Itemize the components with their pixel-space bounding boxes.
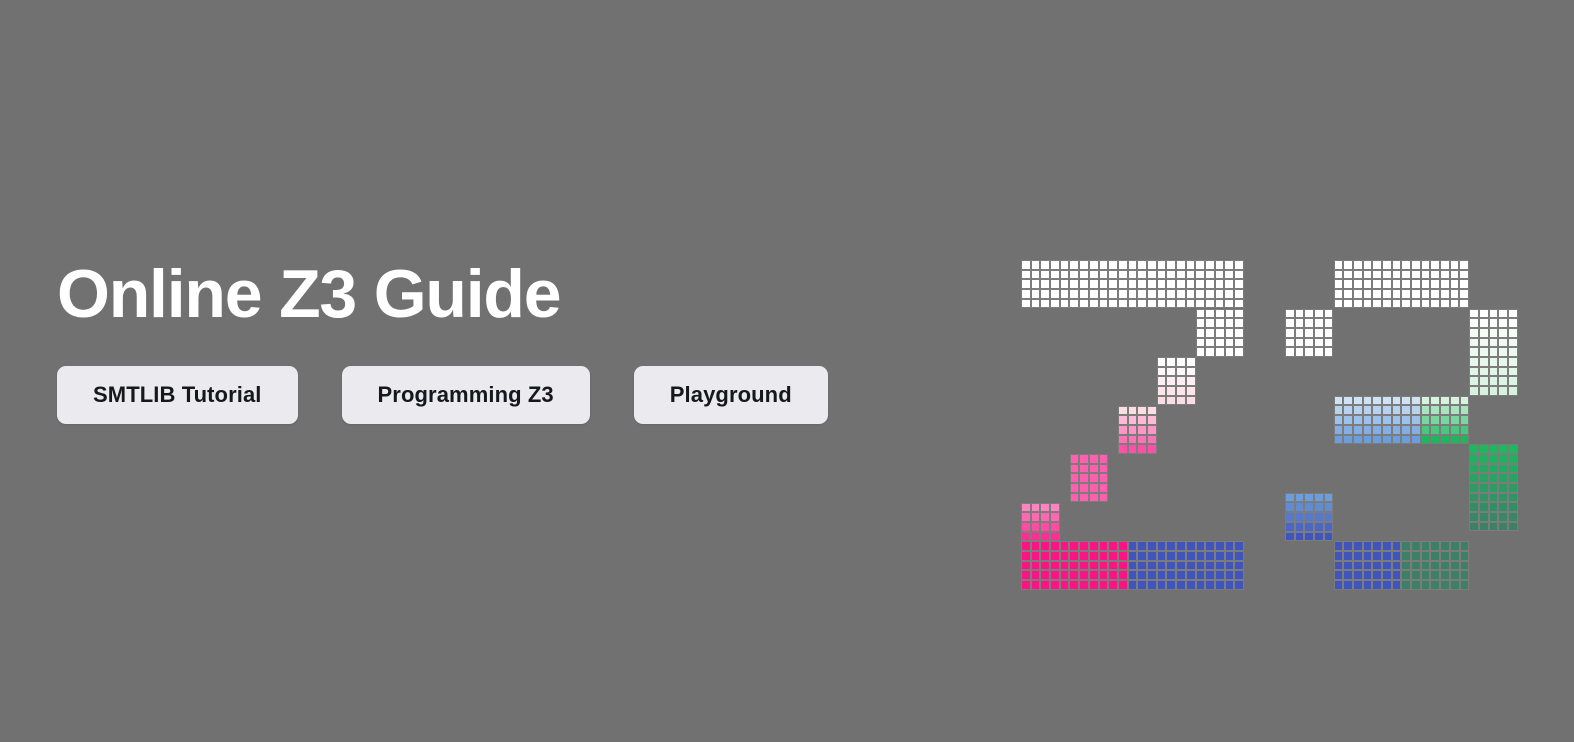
pixel-cell [1099,454,1109,464]
pixel-cell [1372,396,1382,406]
pixel-cell [1195,270,1205,280]
pixel-cell [1285,309,1295,319]
pixel-cell [1040,570,1050,580]
pixel-cell [1459,279,1469,289]
pixel-cell [1508,483,1518,493]
playground-button[interactable]: Playground [634,366,828,424]
pixel-cell [1069,551,1079,561]
pixel-cell [1157,561,1167,571]
pixel-cell [1128,270,1138,280]
pixel-cell [1089,299,1099,309]
pixel-cell [1489,454,1499,464]
pixel-cell [1411,299,1421,309]
pixel-cell [1021,260,1031,270]
pixel-cell [1324,502,1334,512]
pixel-cell [1334,299,1344,309]
pixel-cell [1225,580,1235,590]
pixel-cell [1508,512,1518,522]
pixel-cell [1040,279,1050,289]
pixel-cell [1508,318,1518,328]
pixel-cell [1196,580,1206,590]
pixel-cell [1070,493,1080,503]
pixel-cell [1060,551,1070,561]
pixel-cell [1363,299,1373,309]
pixel-cell [1079,561,1089,571]
pixel-cell [1450,299,1460,309]
pixel-cell [1205,338,1215,348]
pixel-cell [1401,570,1411,580]
pixel-cell [1460,541,1470,551]
pixel-cell [1089,551,1099,561]
pixel-cell [1137,444,1147,454]
pixel-cell [1498,347,1508,357]
pixel-cell [1147,406,1157,416]
pixel-cell [1285,512,1295,522]
pixel-cell [1440,270,1450,280]
pixel-cell [1196,570,1206,580]
pixel-cell [1295,338,1305,348]
pixel-cell [1215,279,1225,289]
pixel-cell [1401,561,1411,571]
pixel-cell [1508,309,1518,319]
pixel-cell [1334,561,1344,571]
pixel-cell [1186,357,1196,367]
pixel-cell [1079,483,1089,493]
pixel-cell [1295,512,1305,522]
pixel-cell [1343,279,1353,289]
hero-section: Online Z3 Guide SMTLIB Tutorial Programm… [0,0,1574,742]
pixel-cell [1479,493,1489,503]
pixel-cell [1363,279,1373,289]
three-bottom-blue [1334,541,1402,589]
pixel-cell [1498,444,1508,454]
pixel-cell [1070,464,1080,474]
pixel-cell [1430,299,1440,309]
pixel-cell [1040,503,1050,513]
pixel-cell [1128,551,1138,561]
pixel-cell [1479,367,1489,377]
pixel-cell [1363,580,1373,590]
pixel-cell [1176,299,1186,309]
pixel-cell [1363,415,1373,425]
pixel-cell [1508,338,1518,348]
pixel-cell [1176,580,1186,590]
pixel-cell [1215,309,1225,319]
pixel-cell [1099,561,1109,571]
pixel-cell [1411,289,1421,299]
pixel-cell [1382,299,1392,309]
pixel-cell [1224,289,1234,299]
pixel-cell [1334,289,1344,299]
pixel-cell [1411,279,1421,289]
pixel-cell [1108,260,1118,270]
pixel-cell [1392,580,1402,590]
pixel-cell [1040,260,1050,270]
pixel-cell [1450,415,1460,425]
pixel-cell [1508,386,1518,396]
pixel-cell [1382,580,1392,590]
pixel-cell [1450,270,1460,280]
pixel-cell [1225,347,1235,357]
pixel-cell [1450,551,1460,561]
pixel-cell [1031,260,1041,270]
pixel-cell [1285,502,1295,512]
pixel-cell [1128,260,1138,270]
pixel-cell [1166,541,1176,551]
pixel-cell [1353,396,1363,406]
pixel-cell [1195,289,1205,299]
pixel-cell [1128,415,1138,425]
z3-pixel-logo [1021,260,1518,586]
pixel-cell [1450,425,1460,435]
pixel-cell [1205,279,1215,289]
pixel-cell [1050,561,1060,571]
pixel-cell [1215,328,1225,338]
pixel-cell [1196,347,1206,357]
pixel-cell [1421,551,1431,561]
pixel-cell [1430,435,1440,445]
pixel-cell [1401,580,1411,590]
pixel-cell [1031,289,1041,299]
pixel-cell [1392,425,1402,435]
pixel-cell [1469,464,1479,474]
pixel-cell [1128,425,1138,435]
pixel-cell [1225,318,1235,328]
seven-top-bar [1021,260,1244,308]
pixel-cell [1234,541,1244,551]
pixel-cell [1372,260,1382,270]
pixel-cell [1137,551,1147,561]
pixel-cell [1450,570,1460,580]
pixel-cell [1234,299,1244,309]
pixel-cell [1118,435,1128,445]
pixel-cell [1060,570,1070,580]
pixel-cell [1421,415,1431,425]
pixel-cell [1234,580,1244,590]
three-bottom-green [1401,541,1469,589]
pixel-cell [1166,357,1176,367]
pixel-cell [1295,347,1305,357]
pixel-cell [1040,561,1050,571]
pixel-cell [1479,357,1489,367]
pixel-cell [1353,289,1363,299]
pixel-cell [1401,279,1411,289]
pixel-cell [1108,570,1118,580]
pixel-cell [1382,551,1392,561]
pixel-cell [1040,541,1050,551]
pixel-cell [1498,338,1508,348]
pixel-cell [1089,270,1099,280]
pixel-cell [1118,279,1128,289]
pixel-cell [1450,580,1460,590]
pixel-cell [1157,279,1167,289]
pixel-cell [1176,270,1186,280]
pixel-cell [1411,425,1421,435]
pixel-cell [1060,561,1070,571]
pixel-cell [1401,415,1411,425]
pixel-cell [1176,376,1186,386]
pixel-cell [1079,279,1089,289]
pixel-cell [1147,561,1157,571]
pixel-cell [1157,289,1167,299]
pixel-cell [1353,541,1363,551]
pixel-cell [1166,367,1176,377]
pixel-cell [1060,289,1070,299]
pixel-cell [1469,347,1479,357]
pixel-cell [1479,502,1489,512]
pixel-cell [1040,580,1050,590]
pixel-cell [1089,493,1099,503]
pixel-cell [1050,580,1060,590]
pixel-cell [1508,357,1518,367]
pixel-cell [1363,435,1373,445]
pixel-cell [1334,260,1344,270]
pixel-cell [1304,493,1314,503]
pixel-cell [1069,580,1079,590]
pixel-cell [1176,279,1186,289]
pixel-cell [1440,405,1450,415]
pixel-cell [1334,396,1344,406]
pixel-cell [1089,289,1099,299]
pixel-cell [1215,541,1225,551]
pixel-cell [1079,493,1089,503]
pixel-cell [1440,299,1450,309]
pixel-cell [1031,541,1041,551]
pixel-cell [1372,425,1382,435]
pixel-cell [1440,551,1450,561]
pixel-cell [1205,347,1215,357]
pixel-cell [1079,289,1089,299]
pixel-cell [1137,289,1147,299]
pixel-cell [1108,299,1118,309]
pixel-cell [1196,338,1206,348]
pixel-cell [1498,464,1508,474]
pixel-cell [1304,532,1314,542]
pixel-cell [1285,347,1295,357]
pixel-cell [1089,473,1099,483]
pixel-cell [1176,289,1186,299]
pixel-cell [1343,405,1353,415]
pixel-cell [1128,435,1138,445]
pixel-cell [1195,299,1205,309]
pixel-cell [1353,270,1363,280]
pixel-cell [1498,386,1508,396]
pixel-cell [1128,561,1138,571]
pixel-cell [1430,279,1440,289]
pixel-cell [1382,561,1392,571]
pixel-cell [1421,270,1431,280]
pixel-cell [1334,551,1344,561]
pixel-cell [1295,502,1305,512]
pixel-cell [1176,396,1186,406]
pixel-cell [1363,396,1373,406]
pixel-cell [1460,405,1470,415]
pixel-cell [1157,580,1167,590]
pixel-cell [1430,561,1440,571]
pixel-cell [1166,396,1176,406]
pixel-cell [1343,396,1353,406]
pixel-cell [1479,473,1489,483]
pixel-cell [1421,570,1431,580]
pixel-cell [1363,425,1373,435]
pixel-cell [1411,570,1421,580]
pixel-cell [1430,405,1440,415]
pixel-cell [1324,493,1334,503]
pixel-cell [1508,493,1518,503]
pixel-cell [1186,580,1196,590]
pixel-cell [1314,347,1324,357]
pixel-cell [1353,425,1363,435]
pixel-cell [1479,464,1489,474]
pixel-cell [1176,367,1186,377]
pixel-cell [1099,473,1109,483]
pixel-cell [1372,435,1382,445]
pixel-cell [1147,570,1157,580]
pixel-cell [1157,551,1167,561]
pixel-cell [1363,541,1373,551]
pixel-cell [1069,270,1079,280]
pixel-cell [1498,376,1508,386]
pixel-cell [1196,551,1206,561]
pixel-cell [1401,289,1411,299]
pixel-cell [1069,570,1079,580]
pixel-cell [1469,493,1479,503]
pixel-cell [1205,318,1215,328]
pixel-cell [1324,512,1334,522]
pixel-cell [1079,570,1089,580]
pixel-cell [1353,435,1363,445]
pixel-cell [1195,260,1205,270]
pixel-cell [1363,570,1373,580]
pixel-cell [1205,299,1215,309]
pixel-cell [1186,386,1196,396]
pixel-cell [1421,279,1431,289]
pixel-cell [1469,473,1479,483]
pixel-cell [1489,502,1499,512]
pixel-cell [1079,473,1089,483]
pixel-cell [1304,338,1314,348]
pixel-cell [1489,357,1499,367]
pixel-cell [1450,279,1460,289]
pixel-cell [1363,561,1373,571]
pixel-cell [1215,551,1225,561]
pixel-cell [1343,289,1353,299]
pixel-cell [1157,357,1167,367]
pixel-cell [1060,270,1070,280]
pixel-cell [1479,444,1489,454]
pixel-cell [1489,386,1499,396]
pixel-cell [1304,309,1314,319]
pixel-cell [1324,328,1334,338]
pixel-cell [1225,338,1235,348]
pixel-cell [1060,279,1070,289]
pixel-cell [1401,435,1411,445]
pixel-cell [1392,279,1402,289]
pixel-cell [1469,454,1479,464]
smtlib-tutorial-button[interactable]: SMTLIB Tutorial [57,366,298,424]
pixel-cell [1089,541,1099,551]
pixel-cell [1440,425,1450,435]
pixel-cell [1382,405,1392,415]
pixel-cell [1166,376,1176,386]
pixel-cell [1069,561,1079,571]
pixel-cell [1040,270,1050,280]
pixel-cell [1215,260,1225,270]
pixel-cell [1343,561,1353,571]
pixel-cell [1498,367,1508,377]
pixel-cell [1489,318,1499,328]
pixel-cell [1215,318,1225,328]
pixel-cell [1304,328,1314,338]
pixel-cell [1343,270,1353,280]
pixel-cell [1225,309,1235,319]
pixel-cell [1147,289,1157,299]
pixel-cell [1460,425,1470,435]
pixel-cell [1186,551,1196,561]
pixel-cell [1392,561,1402,571]
pixel-cell [1469,367,1479,377]
three-bot-left-stub [1285,493,1333,541]
pixel-cell [1118,551,1128,561]
pixel-cell [1440,541,1450,551]
pixel-cell [1118,570,1128,580]
pixel-cell [1489,367,1499,377]
pixel-cell [1224,279,1234,289]
pixel-cell [1343,260,1353,270]
pixel-cell [1479,347,1489,357]
pixel-cell [1469,386,1479,396]
seven-step-3 [1118,406,1157,454]
pixel-cell [1060,541,1070,551]
pixel-cell [1440,561,1450,571]
pixel-cell [1440,570,1450,580]
pixel-cell [1508,522,1518,532]
pixel-cell [1450,405,1460,415]
pixel-cell [1489,444,1499,454]
pixel-cell [1186,561,1196,571]
pixel-cell [1021,541,1031,551]
pixel-cell [1089,454,1099,464]
pixel-cell [1108,279,1118,289]
pixel-cell [1040,512,1050,522]
pixel-cell [1304,318,1314,328]
pixel-cell [1440,289,1450,299]
pixel-cell [1469,328,1479,338]
pixel-cell [1334,279,1344,289]
pixel-cell [1372,561,1382,571]
pixel-cell [1040,289,1050,299]
pixel-cell [1166,289,1176,299]
pixel-cell [1498,522,1508,532]
seven-step-4 [1070,454,1109,502]
pixel-cell [1031,512,1041,522]
pixel-cell [1137,580,1147,590]
pixel-cell [1489,483,1499,493]
pixel-cell [1166,580,1176,590]
pixel-cell [1314,493,1324,503]
pixel-cell [1401,396,1411,406]
pixel-cell [1157,386,1167,396]
pixel-cell [1450,289,1460,299]
programming-z3-button[interactable]: Programming Z3 [342,366,590,424]
pixel-cell [1382,279,1392,289]
pixel-cell [1334,541,1344,551]
pixel-cell [1382,396,1392,406]
pixel-cell [1079,551,1089,561]
pixel-cell [1411,415,1421,425]
pixel-cell [1147,260,1157,270]
pixel-cell [1021,270,1031,280]
